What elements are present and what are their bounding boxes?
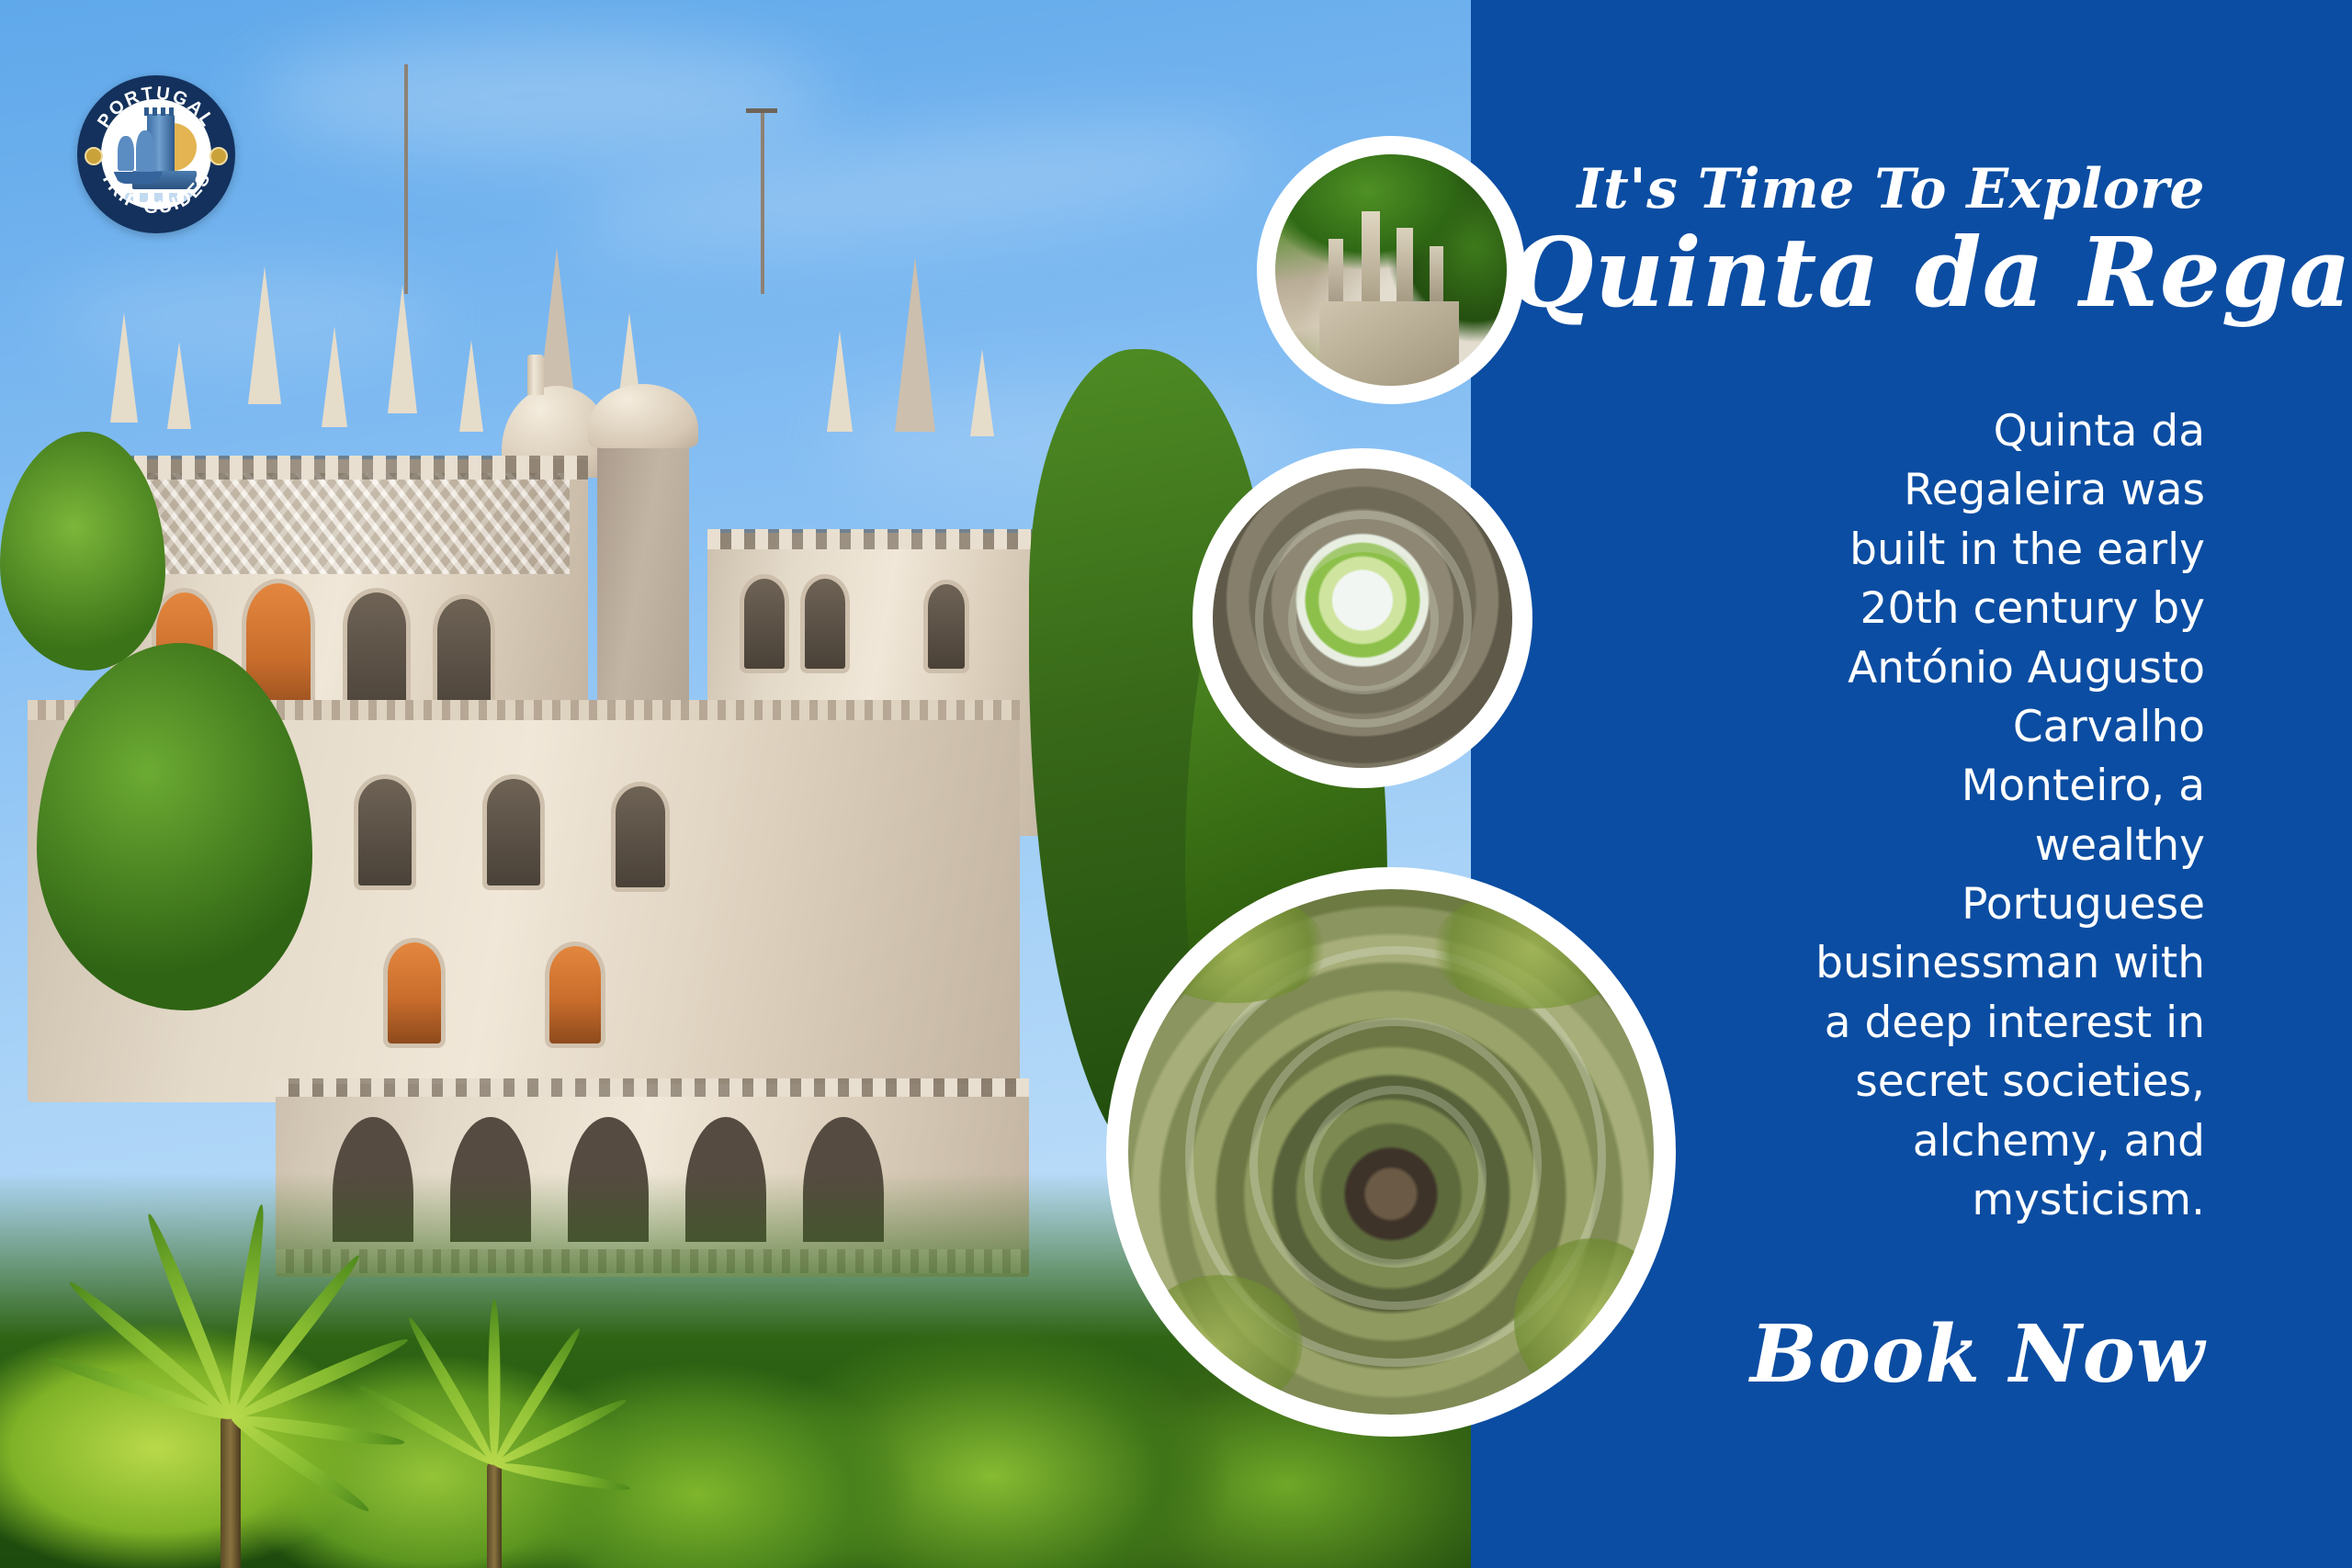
circle-photo-well-downward	[1106, 867, 1676, 1437]
page-title: Quinta da Regaleira	[1510, 222, 2209, 322]
stone-tracery	[129, 473, 570, 574]
balustrade	[707, 529, 1057, 549]
spire	[167, 342, 191, 429]
spire	[248, 266, 281, 404]
mast	[404, 64, 408, 294]
spire	[322, 326, 347, 427]
circle-photo-well-upward	[1193, 448, 1532, 788]
svg-text:PORTUGAL: PORTUGAL	[94, 84, 219, 132]
promo-poster: It's Time To Explore Quinta da Regaleira…	[0, 0, 2352, 1568]
tree-fern	[349, 1378, 735, 1568]
spire	[827, 331, 853, 432]
spire	[388, 285, 417, 413]
balustrade	[110, 456, 588, 479]
description-text: Quinta da Regaleira was built in the ear…	[1810, 402, 2205, 1230]
gothic-window	[388, 942, 441, 1043]
gothic-window	[549, 946, 601, 1043]
tower-cap	[588, 384, 698, 448]
spire	[459, 340, 483, 432]
gothic-window	[744, 579, 785, 669]
weathervane	[746, 108, 777, 113]
cloud-wisp	[257, 37, 827, 156]
gothic-window	[616, 786, 665, 887]
spire	[970, 349, 994, 436]
cloud-wisp	[566, 102, 1271, 276]
mast	[761, 110, 764, 294]
spire	[110, 312, 138, 423]
balustrade	[276, 1078, 1029, 1097]
logo-text: PORTUGAL TRIP GUIDES	[77, 75, 235, 233]
svg-text:TRIP GUIDES: TRIP GUIDES	[96, 168, 215, 218]
spire	[895, 257, 935, 432]
circle-photo-chapel	[1257, 136, 1525, 404]
initiation-well-upward-photo	[1213, 468, 1512, 768]
pinnacle	[527, 355, 544, 395]
brand-logo[interactable]: PORTUGAL TRIP GUIDES	[77, 75, 235, 233]
gothic-window	[487, 779, 540, 886]
chapel-photo	[1275, 154, 1507, 386]
gothic-window	[928, 584, 965, 669]
spire	[538, 248, 575, 404]
eyebrow-text: It's Time To Explore	[1525, 162, 2205, 217]
gothic-window	[358, 779, 412, 886]
gothic-window	[805, 579, 845, 669]
initiation-well-downward-photo	[1128, 889, 1654, 1415]
